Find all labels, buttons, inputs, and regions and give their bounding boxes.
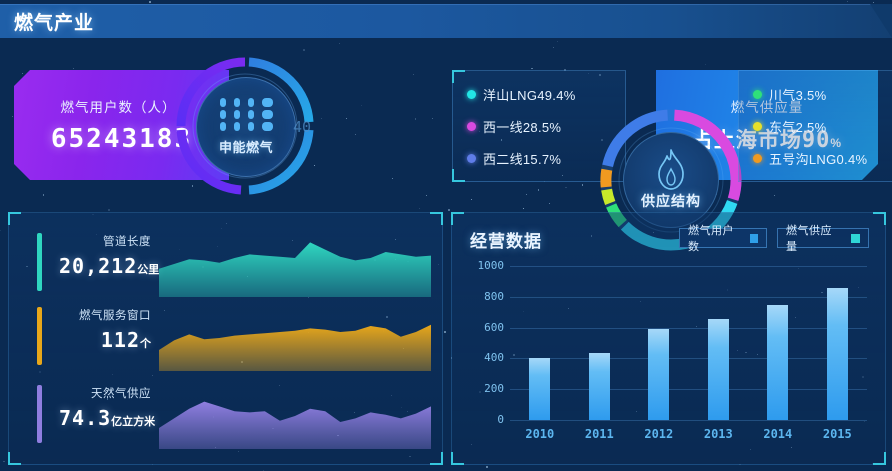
- dashboard-background: 燃气产业 燃气用户数（人） 65243183: [0, 0, 892, 471]
- legend-item[interactable]: 五号沟LNG0.4%: [739, 149, 892, 168]
- corner-decoration: [8, 452, 21, 465]
- legend-swatch: [750, 234, 758, 243]
- legend-color-dot: [467, 122, 476, 131]
- grid-line: [510, 297, 867, 298]
- grid-dots-icon: [220, 98, 273, 131]
- grid-line: [510, 266, 867, 267]
- legend-item[interactable]: 东气2.5%: [739, 117, 892, 136]
- legend-item[interactable]: 川气3.5%: [739, 85, 892, 104]
- chart-bar[interactable]: [529, 358, 550, 420]
- metric-sparkline: [159, 231, 431, 297]
- metric-accent-bar: [37, 233, 42, 291]
- x-axis-tick: 2014: [755, 427, 801, 441]
- legend-color-dot: [753, 90, 762, 99]
- x-axis-tick: 2010: [517, 427, 563, 441]
- legend-toggle-gas-supply[interactable]: 燃气供应量: [777, 228, 869, 248]
- metric-accent-bar: [37, 385, 42, 443]
- y-axis-tick: 200: [470, 382, 504, 395]
- legend-item-label: 西二线15.7%: [483, 149, 561, 168]
- page-header: 燃气产业: [0, 4, 892, 38]
- brand-name: 申能燃气: [219, 137, 273, 156]
- legend-color-dot: [753, 154, 762, 163]
- metric-label: 天然气供应: [59, 385, 151, 401]
- metric-label: 燃气服务窗口: [59, 307, 151, 323]
- panel-title: 经营数据: [470, 227, 542, 252]
- corner-decoration: [452, 70, 465, 83]
- metrics-panel: 管道长度 20,212公里 燃气服务窗口 112个 天然气供应 74.3亿立方米: [8, 212, 443, 465]
- grid-line: [510, 420, 867, 421]
- legend-color-dot: [753, 122, 762, 131]
- y-axis-tick: 800: [470, 290, 504, 303]
- legend-item-label: 东气2.5%: [769, 117, 826, 136]
- corner-decoration: [430, 452, 443, 465]
- corner-decoration: [451, 212, 464, 225]
- grid-line: [510, 389, 867, 390]
- gas-users-label: 燃气用户数（人）: [61, 96, 177, 116]
- y-axis-tick: 0: [470, 413, 504, 426]
- x-axis-tick: 2013: [695, 427, 741, 441]
- brand-ring-inner: 申能燃气: [196, 77, 296, 177]
- metric-row[interactable]: 燃气服务窗口 112个: [9, 303, 442, 375]
- metric-value: 20,212公里: [59, 254, 151, 278]
- chart-bar[interactable]: [827, 288, 848, 420]
- x-axis-tick: 2012: [636, 427, 682, 441]
- metric-label: 管道长度: [59, 233, 151, 249]
- top-summary-band: 燃气用户数（人） 65243183: [0, 48, 892, 203]
- legend-color-dot: [467, 90, 476, 99]
- metric-row[interactable]: 天然气供应 74.3亿立方米: [9, 381, 442, 453]
- legend-toggle-label: 燃气用户数: [688, 222, 740, 254]
- x-axis-tick: 2011: [576, 427, 622, 441]
- y-axis-tick: 1000: [470, 259, 504, 272]
- legend-swatch: [851, 234, 860, 243]
- legend-color-dot: [467, 154, 476, 163]
- ring-tick-label: 40: [293, 118, 311, 136]
- corner-decoration: [452, 169, 465, 182]
- metric-sparkline: [159, 383, 431, 449]
- chart-bar[interactable]: [589, 353, 610, 420]
- legend-item-label: 五号沟LNG0.4%: [769, 149, 867, 168]
- legend-item-label: 西一线28.5%: [483, 117, 561, 136]
- business-data-panel: 经营数据 燃气用户数 燃气供应量 02004006008001000201020…: [451, 212, 886, 465]
- brand-ring: 申能燃气 40: [175, 56, 315, 196]
- chart-bar[interactable]: [708, 319, 729, 420]
- metric-row[interactable]: 管道长度 20,212公里: [9, 229, 442, 301]
- supply-legend-right: 川气3.5% 东气2.5% 五号沟LNG0.4%: [738, 70, 892, 182]
- y-axis-tick: 400: [470, 351, 504, 364]
- corner-decoration: [873, 212, 886, 225]
- metric-number: 112: [101, 328, 140, 352]
- metric-unit: 公里: [137, 264, 159, 276]
- metric-value: 74.3亿立方米: [59, 406, 151, 430]
- metric-value: 112个: [59, 328, 151, 352]
- grid-line: [510, 358, 867, 359]
- metric-number: 20,212: [59, 254, 137, 278]
- metric-unit: 个: [140, 338, 151, 350]
- legend-item-label: 川气3.5%: [769, 85, 826, 104]
- legend-toggle-gas-users[interactable]: 燃气用户数: [679, 228, 767, 248]
- corner-decoration: [8, 212, 21, 225]
- gas-users-value: 65243183: [51, 124, 192, 154]
- metric-unit: 亿立方米: [111, 416, 155, 428]
- y-axis-tick: 600: [470, 321, 504, 334]
- flame-icon: [652, 147, 690, 193]
- corner-decoration: [430, 212, 443, 225]
- grid-line: [510, 328, 867, 329]
- metric-accent-bar: [37, 307, 42, 365]
- metric-sparkline: [159, 305, 431, 371]
- donut-title: 供应结构: [641, 191, 701, 211]
- chart-bar[interactable]: [648, 329, 669, 420]
- bar-chart[interactable]: 0200400600800100020102011201220132014201…: [462, 258, 875, 454]
- legend-item-label: 洋山LNG49.4%: [483, 85, 576, 104]
- legend-toggle-label: 燃气供应量: [786, 222, 841, 254]
- chart-bar[interactable]: [767, 305, 788, 420]
- x-axis-tick: 2015: [814, 427, 860, 441]
- metric-number: 74.3: [59, 406, 111, 430]
- page-title: 燃气产业: [14, 8, 94, 35]
